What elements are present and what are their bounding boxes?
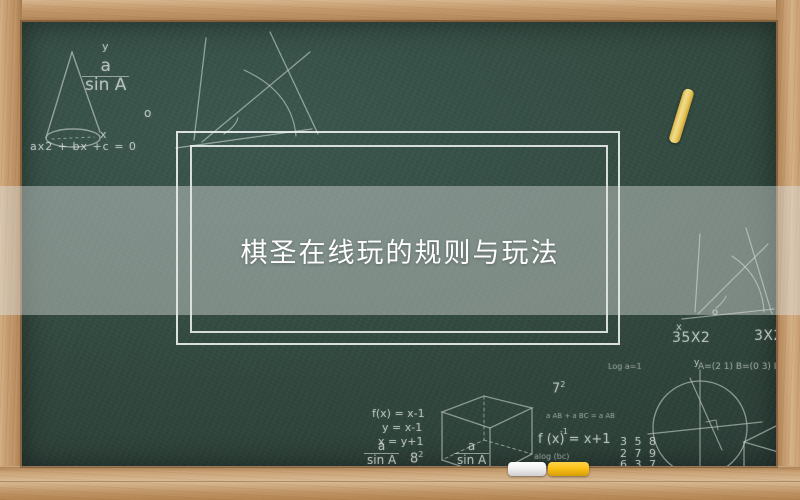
function-y: y = x-1 <box>372 421 425 435</box>
eight-exponent: 2 <box>418 450 423 459</box>
inverse-function-right: f (x) = x+1 <box>538 432 611 447</box>
page-title: 棋圣在线玩的规则与玩法 <box>241 231 560 270</box>
ledge-chalk-white-icon <box>508 462 546 476</box>
law-of-sines-bottom-left: a sin A <box>364 440 399 466</box>
inverse-exponent: -1 <box>560 427 568 436</box>
sine-den-bm: sin A <box>454 454 489 466</box>
title-overlay-band: 棋圣在线玩的规则与玩法 <box>0 186 800 315</box>
axis-label-y-left: y <box>102 40 109 53</box>
ledge-shadow-line <box>0 481 800 482</box>
function-fx: f(x) = x-1 <box>372 407 425 421</box>
inverse-function-text: f (x) = x+1 <box>538 432 611 447</box>
chalk-stick-yellow-icon <box>668 88 695 145</box>
long-division-row-3: 6 3 7 <box>620 459 658 466</box>
cube-diagram-right <box>738 402 776 466</box>
sine-num-bm: a <box>454 440 489 454</box>
sine-den-bl: sin A <box>364 454 399 466</box>
frame-bottom-ledge <box>0 466 800 500</box>
label-35x2: 35X2 <box>672 330 710 346</box>
long-division-row-1: 3 5 8 <box>620 436 658 448</box>
frame-top-rail <box>0 0 800 22</box>
vector-note: a AB + a BC = a AB <box>546 412 615 420</box>
law-of-sines-denominator: sin A <box>82 77 129 95</box>
label-3x2: 3X2 <box>754 328 776 344</box>
law-of-sines-bottom-mid: a sin A <box>454 440 489 466</box>
angle-label-left: o <box>144 106 151 120</box>
axis-label-y-circle: y <box>694 358 699 368</box>
seven-squared: 72 <box>552 380 565 396</box>
quadratic-equation: ax2 + bx +c = 0 <box>30 140 137 153</box>
long-division-block: 3 5 8 2 7 9 6 3 7 <box>620 436 658 466</box>
label-log: Log a=1 <box>608 362 642 371</box>
eight-squared: 82 <box>410 450 423 466</box>
sine-num-bl: a <box>364 440 399 454</box>
ledge-chalk-yellow-icon <box>548 462 589 476</box>
law-of-sines-left: a sin A <box>82 58 129 95</box>
seven-exponent: 2 <box>560 380 565 389</box>
chalkboard-banner: a sin A y x o ax2 + bx +c = 0 <box>0 0 800 500</box>
ledge-highlight-line <box>0 466 800 467</box>
